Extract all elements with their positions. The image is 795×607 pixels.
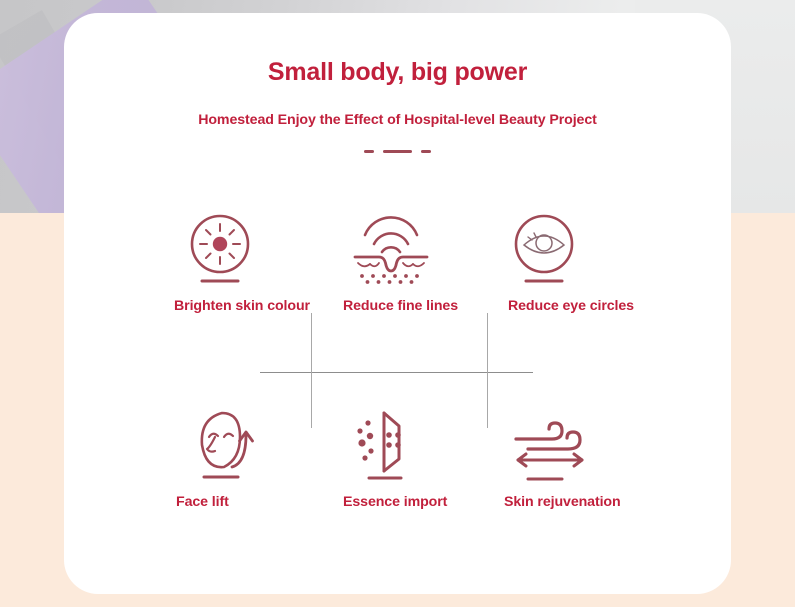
face-profile-up-arrow-icon (174, 407, 262, 485)
dash-small-right (421, 150, 431, 153)
title-dash-decoration (64, 150, 731, 153)
wind-flow-double-arrow-icon (498, 407, 592, 485)
feature-label: Essence import (343, 494, 447, 511)
feature-item-skin-rejuvenation: Skin rejuvenation (490, 407, 653, 511)
feature-label: Skin rejuvenation (504, 494, 621, 511)
essence-particles-membrane-icon (335, 407, 423, 485)
wrinkle-waves-icon (335, 211, 431, 289)
feature-label: Reduce eye circles (508, 298, 634, 315)
page-title: Small body, big power (64, 58, 731, 87)
feature-row-2: Face lift (164, 407, 654, 511)
poster-canvas: Small body, big power Homestead Enjoy th… (0, 0, 795, 607)
page-subtitle: Homestead Enjoy the Effect of Hospital-l… (64, 112, 731, 128)
feature-row-1: Brighten skin colour (164, 211, 654, 315)
feature-item-reduce-eye-circles: Reduce eye circles (490, 211, 653, 315)
feature-label: Face lift (176, 494, 229, 511)
feature-item-face-lift: Face lift (164, 407, 327, 511)
dash-small-left (364, 150, 374, 153)
content-card: Small body, big power Homestead Enjoy th… (64, 13, 731, 594)
feature-label: Brighten skin colour (174, 298, 310, 315)
feature-item-reduce-fine-lines: Reduce fine lines (327, 211, 490, 315)
feature-label: Reduce fine lines (343, 298, 458, 315)
dash-long (383, 150, 412, 153)
feature-item-brighten-skin-colour: Brighten skin colour (164, 211, 327, 315)
brightness-sun-circle-icon (174, 211, 256, 289)
eye-circle-icon (498, 211, 580, 289)
feature-item-essence-import: Essence import (327, 407, 490, 511)
feature-grid: Brighten skin colour (164, 211, 654, 511)
